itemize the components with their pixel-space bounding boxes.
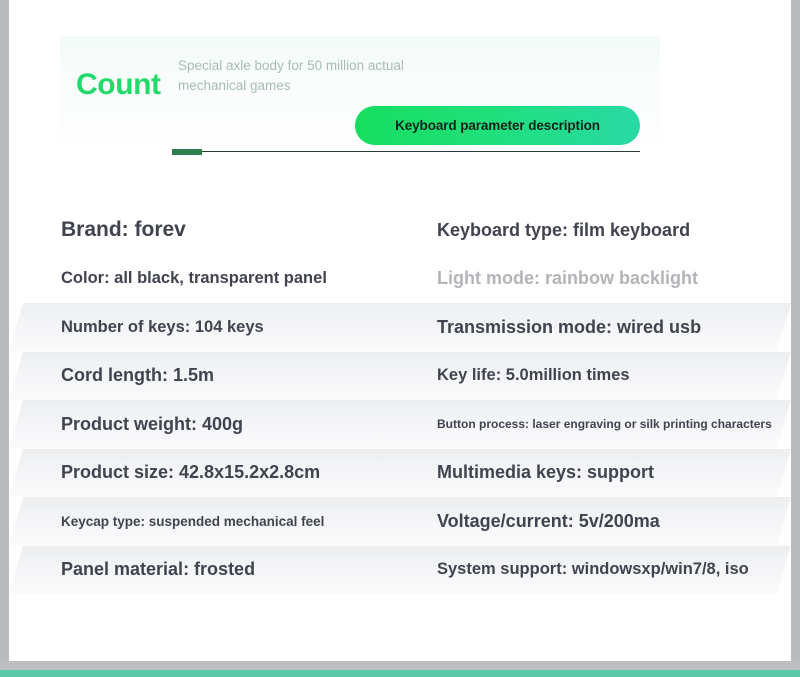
spec-right-voltage-current: Voltage/current: 5v/200ma	[437, 497, 660, 546]
spec-left-number-of-keys: Number of keys: 104 keys	[61, 303, 264, 352]
spec-right-transmission-mode: Transmission mode: wired usb	[437, 303, 701, 352]
spec-list: Brand: forev Keyboard type: film keyboar…	[9, 206, 791, 594]
header-block: Count Special axle body for 50 million a…	[60, 36, 660, 156]
spec-row: Panel material: frosted System support: …	[9, 546, 791, 595]
spec-right-multimedia-keys: Multimedia keys: support	[437, 449, 654, 498]
divider-line	[202, 151, 640, 152]
spec-left-cord-length: Cord length: 1.5m	[61, 352, 214, 401]
spec-left-product-size: Product size: 42.8x15.2x2.8cm	[61, 449, 320, 498]
spec-right-light-mode: Light mode: rainbow backlight	[437, 255, 698, 304]
spec-row: Product size: 42.8x15.2x2.8cm Multimedia…	[9, 449, 791, 498]
left-edge-bar	[0, 0, 9, 662]
right-edge-bar	[791, 0, 800, 662]
header-subtitle: Special axle body for 50 million actual …	[178, 56, 428, 95]
spec-row: Cord length: 1.5m Key life: 5.0million t…	[9, 352, 791, 401]
spec-row: Keycap type: suspended mechanical feel V…	[9, 497, 791, 546]
keyboard-parameter-description-button[interactable]: Keyboard parameter description	[355, 106, 640, 145]
spec-left-color: Color: all black, transparent panel	[61, 255, 327, 304]
header-divider	[172, 148, 640, 156]
brand-word: Count	[76, 70, 161, 100]
bottom-gray-bar	[0, 661, 800, 670]
spec-right-keyboard-type: Keyboard type: film keyboard	[437, 206, 690, 255]
product-spec-page: Count Special axle body for 50 million a…	[0, 0, 800, 677]
spec-left-product-weight: Product weight: 400g	[61, 400, 243, 449]
spec-row: Number of keys: 104 keys Transmission mo…	[9, 303, 791, 352]
spec-left-brand: Brand: forev	[61, 206, 186, 255]
spec-row: Brand: forev Keyboard type: film keyboar…	[9, 206, 791, 255]
spec-left-panel-material: Panel material: frosted	[61, 546, 255, 595]
spec-row: Product weight: 400g Button process: las…	[9, 400, 791, 449]
spec-right-key-life: Key life: 5.0million times	[437, 352, 630, 401]
spec-row: Color: all black, transparent panel Ligh…	[9, 255, 791, 304]
spec-right-button-process: Button process: laser engraving or silk …	[437, 400, 772, 449]
bottom-accent-bar	[0, 670, 800, 677]
spec-left-keycap-type: Keycap type: suspended mechanical feel	[61, 497, 324, 546]
spec-right-system-support: System support: windowsxp/win7/8, iso	[437, 546, 749, 595]
divider-dash	[172, 149, 202, 155]
